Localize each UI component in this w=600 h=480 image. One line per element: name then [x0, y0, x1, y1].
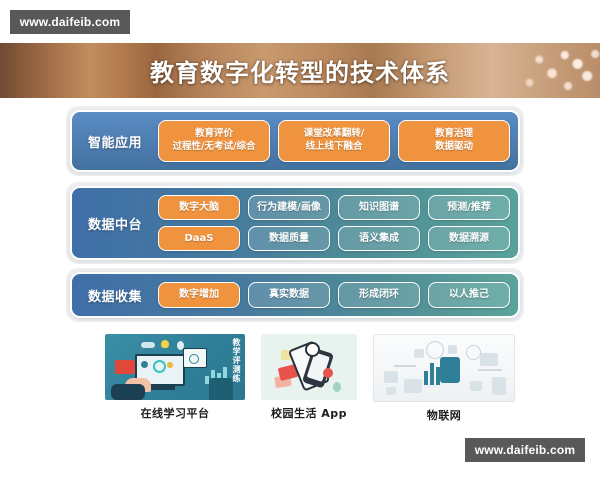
- cell-text-line1: 课堂改革翻转/: [304, 128, 364, 141]
- cell-line: 教育评价 过程性/无考试/综合 课堂改革翻转/ 线上线下融合 教育治理 数据驱动: [158, 120, 510, 162]
- cell-text-line1: 以人推己: [449, 288, 489, 302]
- cell-text-line1: 知识图谱: [359, 201, 399, 215]
- cell-digital-brain[interactable]: 数字大脑: [158, 195, 240, 220]
- illustration-overlay-text: 教学评测练: [226, 338, 240, 383]
- page-title: 教育数字化转型的技术体系: [0, 43, 600, 98]
- cell-data-provenance[interactable]: 数据溯源: [428, 226, 510, 251]
- illustration-caption-iot: 物联网: [427, 407, 462, 423]
- cell-text-line1: 教育治理: [435, 128, 473, 141]
- cell-people-oriented[interactable]: 以人推己: [428, 282, 510, 308]
- connector-line-icon: [478, 369, 502, 371]
- cell-closed-loop[interactable]: 形成闭环: [338, 282, 420, 308]
- watermark-bottom-text: www.daifeib.com: [475, 443, 576, 457]
- cloud-icon: [141, 342, 155, 348]
- yellow-dot-icon: [167, 362, 173, 368]
- cell-text-line1: 预测/推荐: [447, 201, 491, 215]
- cell-text-line1: 教育评价: [195, 128, 233, 141]
- row-body-data-collection: 数字增加 真实数据 形成闭环 以人推己: [158, 282, 518, 308]
- illustration-strip: 教学评测练 在线学习平台 校园生活 App: [105, 334, 500, 423]
- diagram-row-smart-application[interactable]: 智能应用 教育评价 过程性/无考试/综合 课堂改革翻转/ 线上线下融合 教育治理…: [70, 110, 520, 172]
- location-pin-icon: [333, 382, 341, 392]
- cell-text-line1: 数据溯源: [449, 232, 489, 246]
- search-card-icon: [183, 348, 207, 368]
- device-box-icon: [404, 379, 422, 393]
- node-ring-icon: [466, 345, 481, 360]
- device-box-icon: [386, 387, 396, 395]
- illustration-caption-campus-life: 校园生活 App: [271, 405, 347, 421]
- cell-text-line1: 形成闭环: [359, 288, 399, 302]
- row-body-data-mid-end: 数字大脑 行为建模/画像 知识图谱 预测/推荐 DaaS 数据质量 语义集成: [158, 195, 518, 251]
- cell-education-evaluation[interactable]: 教育评价 过程性/无考试/综合: [158, 120, 270, 162]
- cell-text-line1: 数字增加: [179, 288, 219, 302]
- illustration-caption-online-learning: 在线学习平台: [141, 405, 210, 421]
- cell-behavior-modeling[interactable]: 行为建模/画像: [248, 195, 330, 220]
- diagram-row-data-collection[interactable]: 数据收集 数字增加 真实数据 形成闭环 以人推己: [70, 272, 520, 318]
- cell-text-line2: 过程性/无考试/综合: [173, 141, 256, 154]
- arm-icon: [111, 384, 145, 400]
- row-label-smart-application: 智能应用: [72, 132, 158, 151]
- monitor-icon: [480, 353, 498, 366]
- device-box-icon: [448, 345, 457, 354]
- cell-text-line1: 数据质量: [269, 232, 309, 246]
- bar-icon: [430, 363, 434, 385]
- cell-text-line1: 行为建模/画像: [257, 201, 321, 215]
- illustration-image-iot: [373, 334, 515, 402]
- device-box-icon: [384, 371, 398, 383]
- cell-line: 数字增加 真实数据 形成闭环 以人推己: [158, 282, 510, 308]
- cell-education-governance[interactable]: 教育治理 数据驱动: [398, 120, 510, 162]
- cell-text-line2: 数据驱动: [435, 141, 473, 154]
- cell-prediction-recommendation[interactable]: 预测/推荐: [428, 195, 510, 220]
- highlight-block-icon: [440, 357, 460, 383]
- cell-real-data[interactable]: 真实数据: [248, 282, 330, 308]
- watermark-bottom: www.daifeib.com: [465, 438, 585, 462]
- lightbulb-icon: [161, 340, 169, 348]
- cell-line: DaaS 数据质量 语义集成 数据溯源: [158, 226, 510, 251]
- watermark-top: www.daifeib.com: [10, 10, 130, 34]
- red-block-icon: [115, 360, 135, 374]
- row-body-smart-application: 教育评价 过程性/无考试/综合 课堂改革翻转/ 线上线下融合 教育治理 数据驱动: [158, 120, 518, 162]
- cell-text-line1: 真实数据: [269, 288, 309, 302]
- ring-icon: [153, 360, 166, 373]
- cell-data-quality[interactable]: 数据质量: [248, 226, 330, 251]
- cell-text-line2: 线上线下融合: [305, 141, 362, 154]
- device-box-icon: [414, 349, 424, 358]
- connector-line-icon: [394, 365, 416, 367]
- row-label-data-collection: 数据收集: [72, 286, 158, 305]
- device-box-icon: [470, 381, 482, 391]
- cell-text-line1: 数字大脑: [179, 201, 219, 215]
- illustration-online-learning-platform[interactable]: 教学评测练 在线学习平台: [105, 334, 245, 421]
- cell-line: 数字大脑 行为建模/画像 知识图谱 预测/推荐: [158, 195, 510, 220]
- diagram-row-data-mid-end[interactable]: 数据中台 数字大脑 行为建模/画像 知识图谱 预测/推荐 DaaS 数据质量: [70, 186, 520, 260]
- illustration-image-online-learning: 教学评测练: [105, 334, 245, 400]
- circle-outline-icon: [305, 342, 320, 357]
- row-label-data-mid-end: 数据中台: [72, 214, 158, 233]
- cell-semantic-integration[interactable]: 语义集成: [338, 226, 420, 251]
- document-icon: [492, 377, 506, 395]
- cell-daas[interactable]: DaaS: [158, 226, 240, 251]
- red-dot-icon: [323, 368, 333, 378]
- circle-dot-icon: [141, 361, 148, 368]
- title-banner: 教育数字化转型的技术体系: [0, 43, 600, 98]
- bar-icon: [424, 371, 428, 385]
- illustration-campus-life-app[interactable]: 校园生活 App: [261, 334, 357, 421]
- cell-text-line1: DaaS: [185, 232, 214, 246]
- cell-knowledge-graph[interactable]: 知识图谱: [338, 195, 420, 220]
- illustration-image-campus-life: [261, 334, 357, 400]
- cell-text-line1: 语义集成: [359, 232, 399, 246]
- cell-classroom-reform[interactable]: 课堂改革翻转/ 线上线下融合: [278, 120, 390, 162]
- illustration-internet-of-things[interactable]: 物联网: [373, 334, 515, 423]
- watermark-top-text: www.daifeib.com: [20, 15, 121, 29]
- cell-digital-increase[interactable]: 数字增加: [158, 282, 240, 308]
